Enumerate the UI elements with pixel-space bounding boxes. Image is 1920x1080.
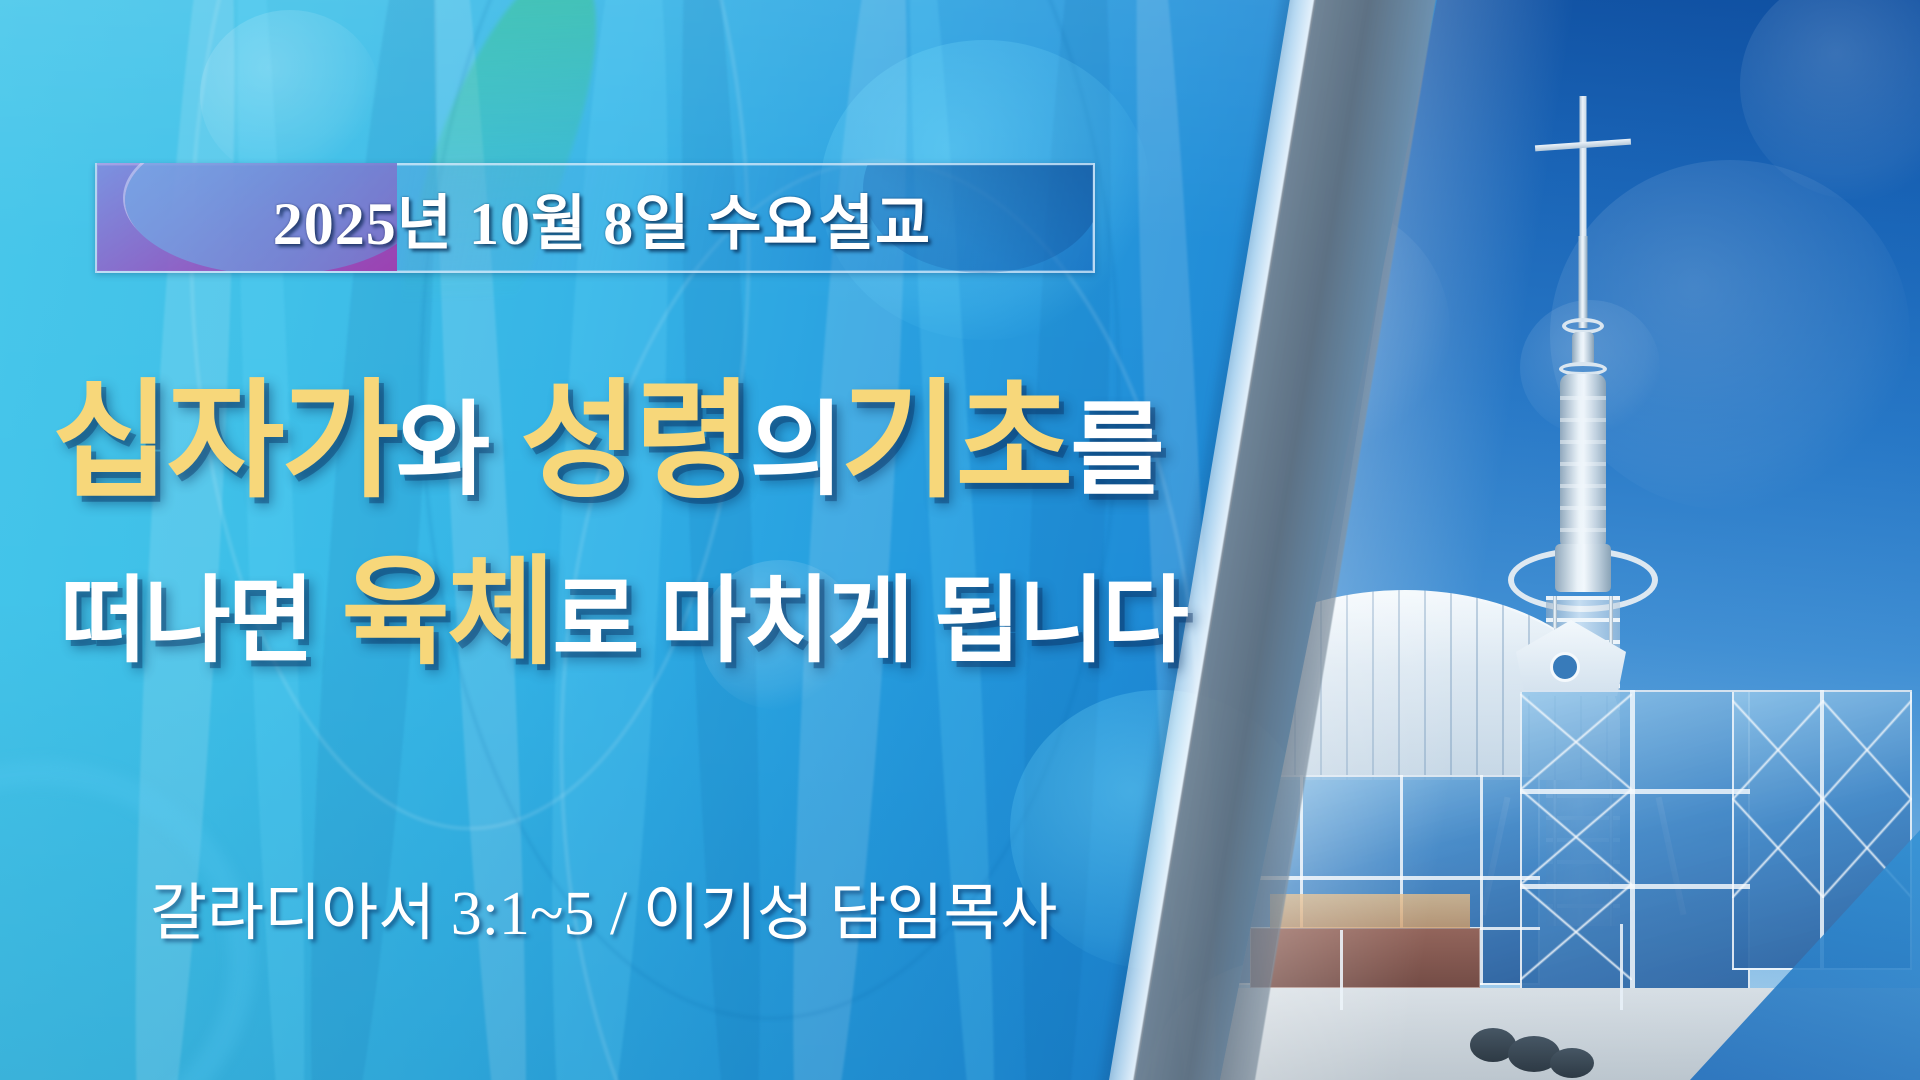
title-segment: 십자가 <box>52 378 396 506</box>
title-segment <box>911 575 934 669</box>
title-segment: 의 <box>750 399 841 501</box>
title-segment <box>636 575 659 669</box>
date-banner: 2025년 10월 8일 수요설교 <box>95 163 1095 273</box>
title-segment: 기초 <box>841 378 1071 506</box>
title-segment: 떠나면 <box>60 575 312 669</box>
scripture-reference: 갈라디아서 3:1~5 / 이기성 담임목사 <box>150 862 1057 952</box>
sermon-title-line-1: 십자가와 성령의기초를 <box>52 378 1282 506</box>
title-segment: 마치게 <box>660 575 912 669</box>
title-segment: 와 <box>396 399 487 501</box>
title-segment <box>312 554 342 672</box>
title-segment <box>487 378 520 506</box>
title-segment: 로 <box>552 575 636 669</box>
bokeh-circle <box>200 10 380 180</box>
sermon-title: 십자가와 성령의기초를 떠나면 육체로 마치게 됩니다 <box>52 378 1282 672</box>
title-segment: 됩니다 <box>934 575 1186 669</box>
title-segment: 를 <box>1070 399 1161 501</box>
sermon-title-card: 2025년 10월 8일 수요설교 십자가와 성령의기초를 떠나면 육체로 마치… <box>0 0 1920 1080</box>
date-banner-text: 2025년 10월 8일 수요설교 <box>97 175 1093 262</box>
title-segment: 성령 <box>520 378 750 506</box>
sermon-title-line-2: 떠나면 육체로 마치게 됩니다 <box>52 554 1282 672</box>
title-segment: 육체 <box>341 554 552 672</box>
